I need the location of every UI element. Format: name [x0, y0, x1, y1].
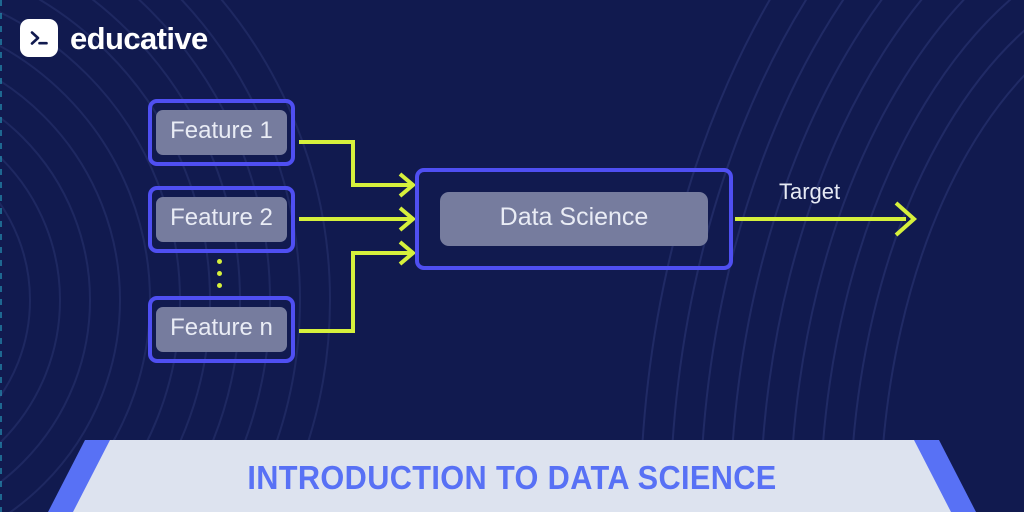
node-feature-1-label: Feature 1: [156, 110, 287, 155]
node-feature-n: Feature n: [148, 296, 295, 363]
node-data-science-label: Data Science: [440, 192, 709, 246]
ellipsis-dot: [217, 259, 222, 264]
arrowhead-target: [896, 203, 914, 235]
target-label: Target: [779, 181, 840, 203]
ellipsis-dot: [217, 271, 222, 276]
node-feature-1: Feature 1: [148, 99, 295, 166]
terminal-prompt-icon: [20, 19, 58, 57]
arrowhead-feature-2: [400, 208, 413, 230]
node-feature-2-label: Feature 2: [156, 197, 287, 242]
vertical-ellipsis-icon: [217, 259, 222, 288]
node-data-science: Data Science: [415, 168, 733, 270]
banner-title: INTRODUCTION TO DATA SCIENCE: [36, 459, 988, 497]
arrowhead-feature-1: [400, 174, 413, 196]
title-banner: INTRODUCTION TO DATA SCIENCE: [0, 440, 1024, 512]
brand-logo[interactable]: educative: [20, 19, 208, 57]
ellipsis-dot: [217, 283, 222, 288]
wire-feature-n: [299, 253, 410, 331]
slide-canvas: educative Feature 1 Feature 2: [0, 0, 1024, 512]
node-feature-n-label: Feature n: [156, 307, 287, 352]
wire-feature-1: [299, 142, 410, 185]
node-feature-2: Feature 2: [148, 186, 295, 253]
arrowhead-feature-n: [400, 242, 413, 264]
brand-name: educative: [70, 23, 208, 54]
